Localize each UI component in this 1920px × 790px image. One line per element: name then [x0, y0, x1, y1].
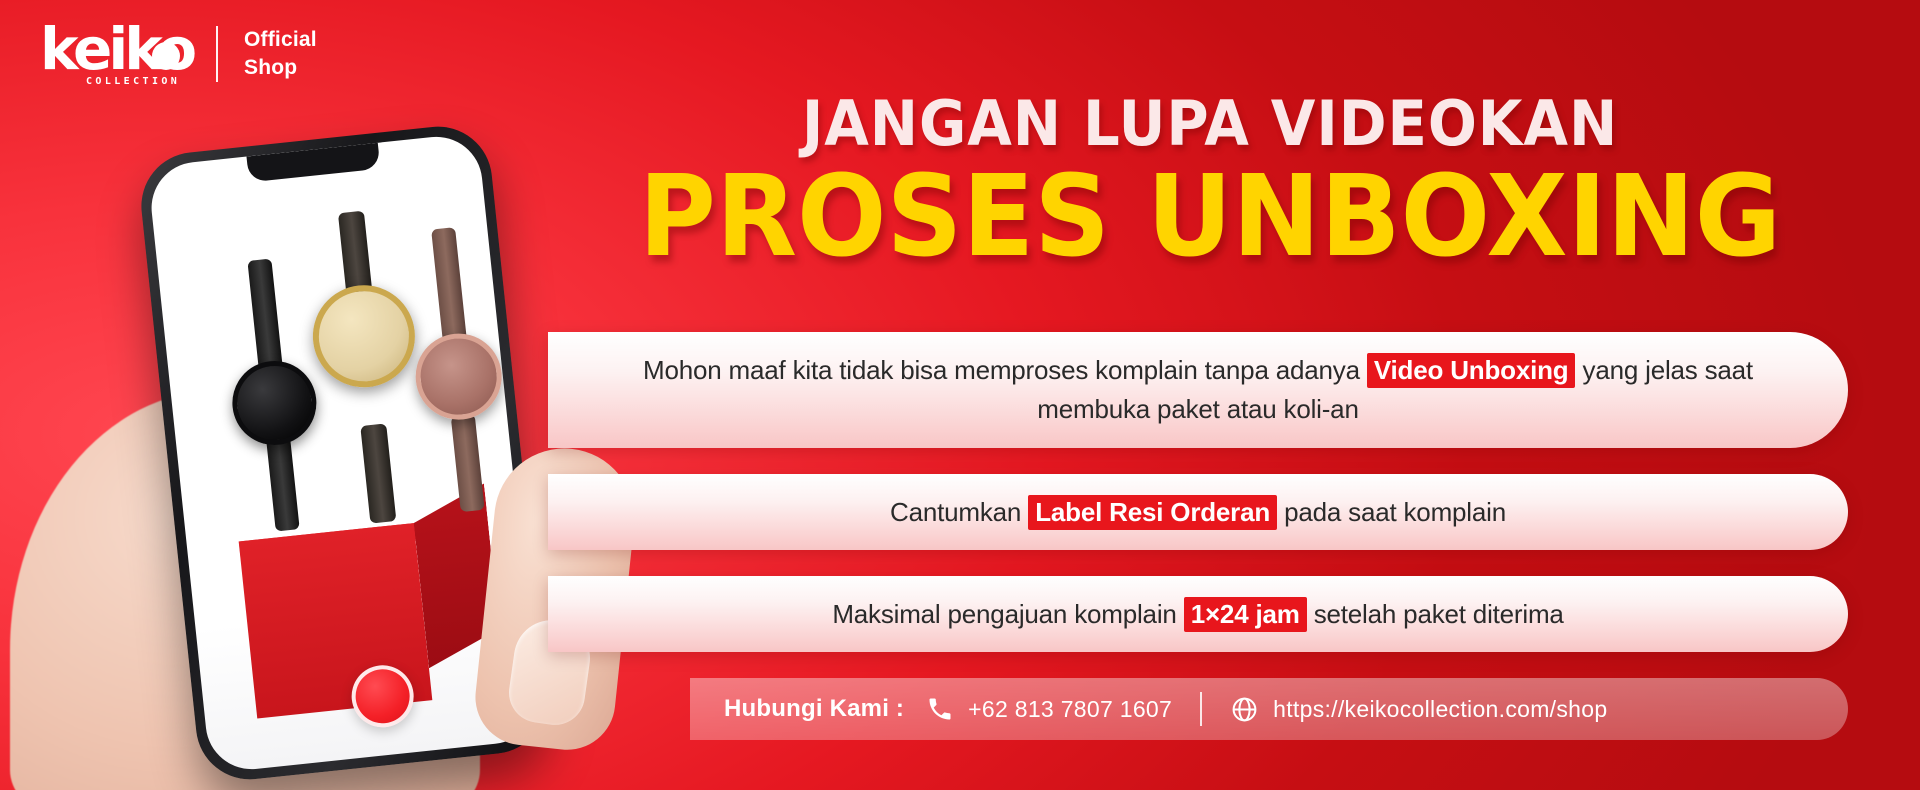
- promo-banner: keiko COLLECTION Official Shop: [0, 0, 1920, 790]
- policy-item: Cantumkan Label Resi Orderan pada saat k…: [548, 474, 1848, 550]
- brand-collection-text: COLLECTION: [86, 76, 180, 87]
- policy-text-before: Maksimal pengajuan komplain: [832, 599, 1176, 629]
- headline-title: PROSES UNBOXING: [561, 161, 1858, 273]
- policy-text: Mohon maaf kita tidak bisa memproses kom…: [548, 351, 1848, 429]
- phone-icon: [926, 695, 954, 723]
- policy-text: Maksimal pengajuan komplain 1×24 jam set…: [772, 595, 1623, 634]
- official-line-2: Shop: [244, 54, 317, 82]
- website-contact[interactable]: https://keikocollection.com/shop: [1230, 695, 1607, 724]
- headline-group: JANGAN LUPA VIDEOKAN PROSES UNBOXING: [520, 92, 1900, 273]
- official-line-1: Official: [244, 26, 317, 54]
- phone-notch: [246, 143, 380, 183]
- policy-text: Cantumkan Label Resi Orderan pada saat k…: [830, 493, 1566, 532]
- watch-strap-top: [431, 227, 467, 345]
- policy-item: Mohon maaf kita tidak bisa memproses kom…: [548, 332, 1848, 448]
- hero-product-image: [0, 60, 600, 790]
- policy-text-before: Mohon maaf kita tidak bisa memproses kom…: [643, 355, 1360, 385]
- policy-highlight: 1×24 jam: [1184, 597, 1307, 632]
- watch-dial: [411, 329, 506, 424]
- policy-highlight: Video Unboxing: [1367, 353, 1576, 388]
- contact-label: Hubungi Kami :: [724, 695, 904, 723]
- contact-divider: [1200, 692, 1202, 726]
- policy-list: Mohon maaf kita tidak bisa memproses kom…: [548, 332, 1848, 652]
- headline-subtitle: JANGAN LUPA VIDEOKAN: [568, 92, 1851, 155]
- policy-highlight: Label Resi Orderan: [1028, 495, 1277, 530]
- policy-text-before: Cantumkan: [890, 497, 1021, 527]
- policy-text-after: pada saat komplain: [1284, 497, 1506, 527]
- phone-contact[interactable]: +62 813 7807 1607: [926, 695, 1172, 723]
- keiko-logo-mark: keiko COLLECTION: [40, 18, 190, 90]
- watch-strap-top: [338, 211, 372, 295]
- brand-logo: keiko COLLECTION Official Shop: [40, 18, 317, 90]
- phone-number: +62 813 7807 1607: [968, 696, 1172, 723]
- policy-text-after: setelah paket diterima: [1314, 599, 1564, 629]
- policy-item: Maksimal pengajuan komplain 1×24 jam set…: [548, 576, 1848, 652]
- website-url: https://keikocollection.com/shop: [1273, 696, 1607, 723]
- contact-bar: Hubungi Kami : +62 813 7807 1607 https:/…: [690, 678, 1848, 740]
- logo-divider: [216, 26, 218, 82]
- official-shop-label: Official Shop: [244, 26, 317, 83]
- globe-icon: [1230, 695, 1259, 724]
- logo-dot-icon: [152, 42, 180, 70]
- watch-dial: [228, 357, 320, 449]
